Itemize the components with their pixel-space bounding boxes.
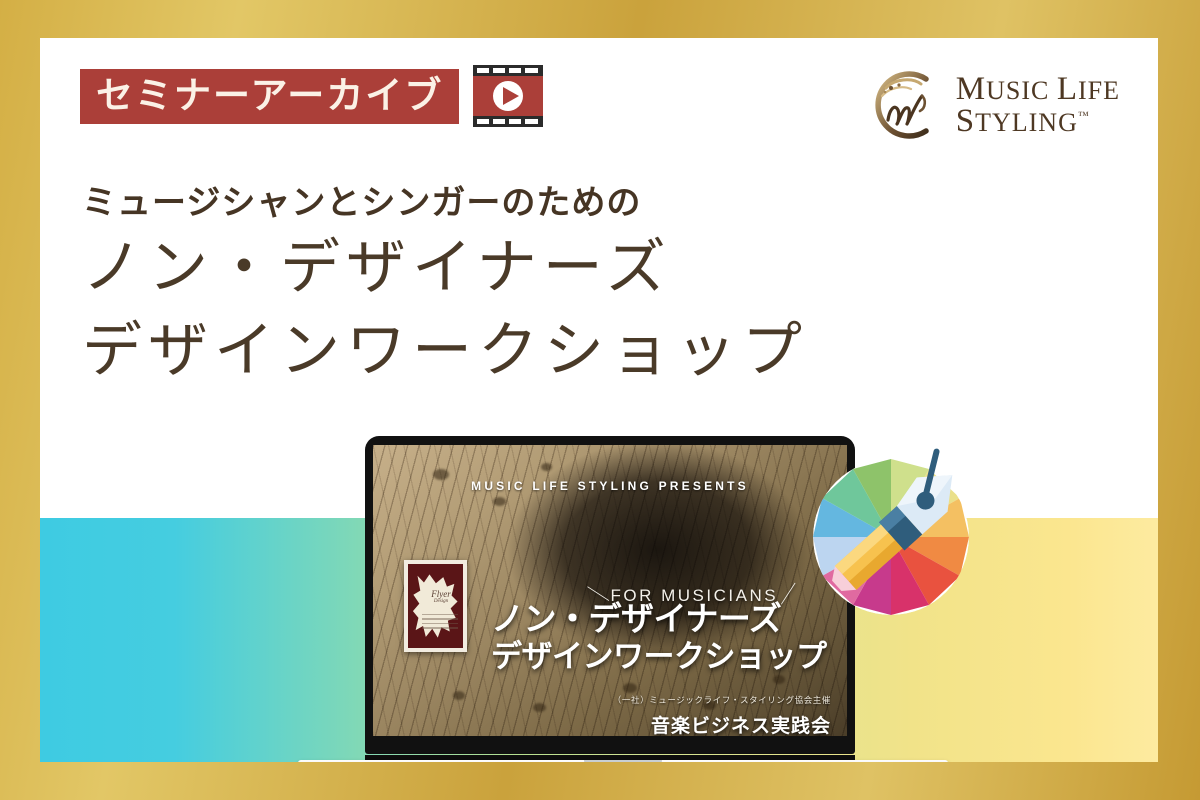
film-play-icon — [473, 65, 543, 127]
flyer-line — [422, 614, 458, 615]
flyer-title: Flyer — [431, 589, 451, 599]
music-note-blotch — [541, 463, 552, 471]
laptop-lid: MUSIC LIFE STYLING PRESENTS ＼FOR MUSICIA… — [365, 436, 855, 754]
brand-text-usic: USIC — [986, 76, 1057, 105]
brand-logo: MUSIC LIFE STYLING™ — [864, 66, 1120, 144]
laptop-screen: MUSIC LIFE STYLING PRESENTS ＼FOR MUSICIA… — [373, 445, 847, 736]
flyer-text-lines — [422, 614, 458, 632]
brand-line-1: MUSIC LIFE — [956, 73, 1120, 105]
brand-cap-l: L — [1057, 71, 1078, 107]
gold-frame: セミナーアーカイブ — [0, 0, 1200, 800]
music-note-blotch — [453, 691, 465, 700]
screen-organizer-note: （一社）ミュージックライフ・スタイリング協会主催 — [613, 694, 831, 706]
screen-title-line-1: ノン・デザイナーズ — [491, 600, 827, 639]
music-note-blotch — [533, 703, 546, 712]
brand-wordmark: MUSIC LIFE STYLING™ — [956, 73, 1120, 138]
brand-text-tyling: TYLING — [975, 108, 1078, 137]
screen-organizer-name: 音楽ビジネス実践会 — [651, 711, 831, 736]
flyer-thumbnail: Flyer Design — [404, 560, 467, 652]
trademark-symbol: ™ — [1078, 110, 1089, 122]
music-note-blotch — [623, 683, 637, 693]
screen-presents-label: MUSIC LIFE STYLING PRESENTS — [373, 479, 847, 493]
design-tools-color-wheel-icon — [800, 446, 982, 628]
flyer-line — [422, 627, 458, 628]
seminar-archive-badge-row: セミナーアーカイブ — [80, 65, 543, 127]
music-note-blotch — [773, 675, 785, 684]
flyer-script-text: Flyer Design — [418, 590, 463, 605]
brand-line-2: STYLING™ — [956, 105, 1120, 137]
headline-subtitle: ミュージシャンとシンガーのための — [82, 183, 808, 224]
music-note-blotch — [493, 497, 506, 506]
screen-title: ノン・デザイナーズ デザインワークショップ — [491, 600, 827, 676]
laptop-base-notch — [584, 760, 662, 762]
flyer-subtitle: Design — [418, 599, 463, 604]
laptop-base — [298, 760, 948, 762]
flyer-line — [422, 618, 458, 619]
headline-title-line-1: ノン・デザイナーズ — [82, 230, 808, 307]
brand-cap-m: M — [956, 71, 986, 107]
seminar-archive-badge: セミナーアーカイブ — [80, 69, 459, 124]
monogram-m-icon — [864, 66, 942, 144]
screen-title-line-2: デザインワークショップ — [491, 639, 827, 676]
brand-text-ife: IFE — [1078, 76, 1120, 105]
headline-block: ミュージシャンとシンガーのための ノン・デザイナーズ デザインワークショップ — [82, 183, 808, 389]
content-panel: セミナーアーカイブ — [40, 38, 1158, 762]
flyer-line — [422, 623, 458, 624]
flyer-inner: Flyer Design — [408, 564, 463, 648]
headline-title-line-2: デザインワークショップ — [82, 313, 808, 390]
brand-cap-s: S — [956, 103, 975, 139]
